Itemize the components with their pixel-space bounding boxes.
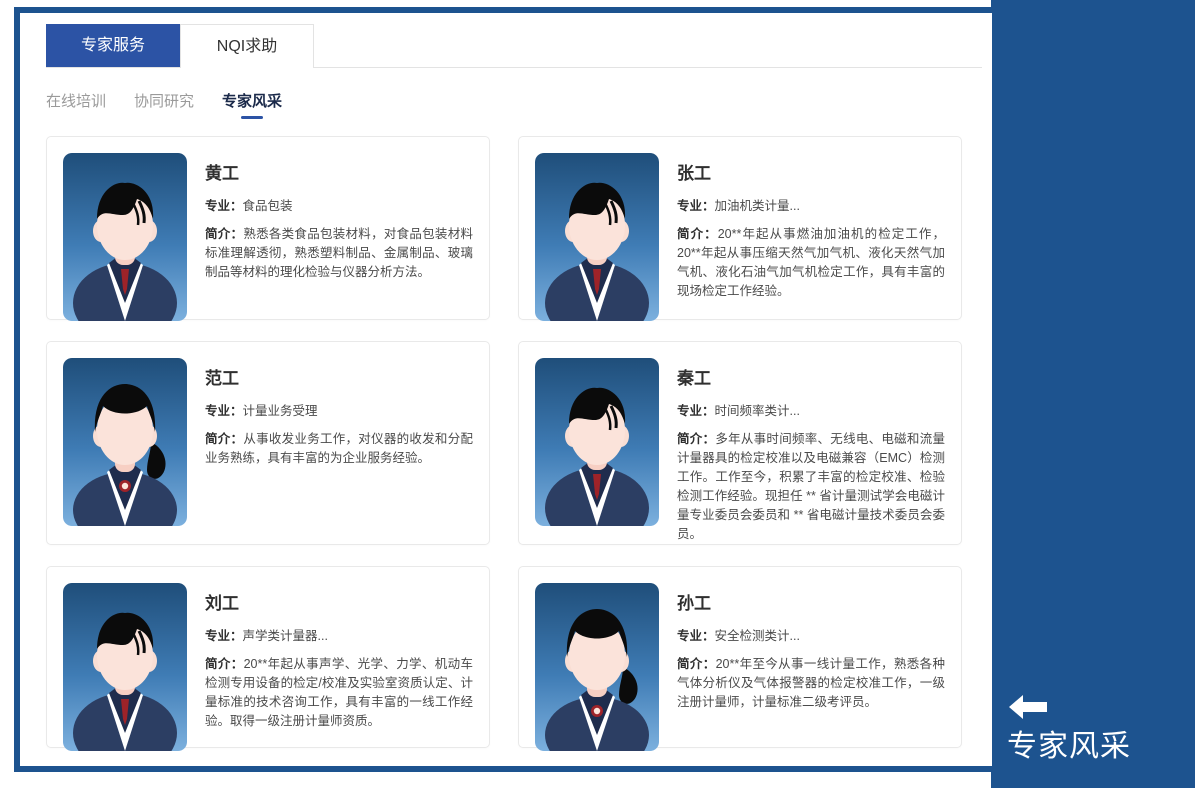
expert-major-row: 专业：加油机类计量... bbox=[677, 197, 945, 216]
expert-info: 黄工 专业：食品包装 简介：熟悉各类食品包装材料，对食品包装材料标准理解透彻，熟… bbox=[205, 153, 473, 282]
subtab-collaborative-research[interactable]: 协同研究 bbox=[134, 90, 194, 119]
app-content: 专家服务NQI求助 在线培训协同研究专家风采 bbox=[20, 13, 992, 766]
avatar-female-icon bbox=[63, 358, 187, 526]
major-value: 时间频率类计... bbox=[715, 404, 800, 418]
bio-label: 简介： bbox=[205, 227, 243, 241]
bio-value: 20**年起从事燃油加油机的检定工作，20**年起从事压缩天然气加气机、液化天然… bbox=[677, 227, 945, 298]
expert-card[interactable]: 孙工 专业：安全检测类计... 简介：20**年至今从事一线计量工作，熟悉各种气… bbox=[518, 566, 962, 748]
major-label: 专业： bbox=[677, 629, 715, 643]
expert-bio-row: 简介：从事收发业务工作，对仪器的收发和分配业务熟练，具有丰富的为企业服务经验。 bbox=[205, 430, 473, 468]
avatar-female-icon bbox=[535, 583, 659, 751]
expert-card[interactable]: 张工 专业：加油机类计量... 简介：20**年起从事燃油加油机的检定工作，20… bbox=[518, 136, 962, 320]
annotation-label: 专家风采 bbox=[1007, 728, 1187, 766]
bio-label: 简介： bbox=[677, 657, 716, 671]
expert-info: 孙工 专业：安全检测类计... 简介：20**年至今从事一线计量工作，熟悉各种气… bbox=[677, 583, 945, 712]
tab-nqi-help[interactable]: NQI求助 bbox=[180, 24, 314, 68]
expert-card[interactable]: 刘工 专业：声学类计量器... 简介：20**年起从事声学、光学、力学、机动车检… bbox=[46, 566, 490, 748]
secondary-tabbar: 在线培训协同研究专家风采 bbox=[46, 90, 992, 120]
expert-info: 秦工 专业：时间频率类计... 简介：多年从事时间频率、无线电、电磁和流量计量器… bbox=[677, 358, 945, 544]
avatar-male-icon bbox=[535, 358, 659, 526]
bio-label: 简介： bbox=[205, 432, 243, 446]
subtab-online-training[interactable]: 在线培训 bbox=[46, 90, 106, 119]
expert-major-row: 专业：计量业务受理 bbox=[205, 402, 473, 421]
annotation-panel: 专家风采 bbox=[991, 0, 1195, 788]
bio-value: 多年从事时间频率、无线电、电磁和流量计量器具的检定校准以及电磁兼容（EMC）检测… bbox=[677, 432, 945, 541]
expert-major-row: 专业：声学类计量器... bbox=[205, 627, 473, 646]
bio-label: 简介： bbox=[205, 657, 244, 671]
expert-info: 刘工 专业：声学类计量器... 简介：20**年起从事声学、光学、力学、机动车检… bbox=[205, 583, 473, 731]
expert-info: 张工 专业：加油机类计量... 简介：20**年起从事燃油加油机的检定工作，20… bbox=[677, 153, 945, 301]
bio-label: 简介： bbox=[677, 432, 715, 446]
expert-bio-row: 简介：多年从事时间频率、无线电、电磁和流量计量器具的检定校准以及电磁兼容（EMC… bbox=[677, 430, 945, 544]
avatar-male-icon bbox=[535, 153, 659, 321]
major-value: 安全检测类计... bbox=[715, 629, 800, 643]
major-value: 加油机类计量... bbox=[715, 199, 800, 213]
major-value: 计量业务受理 bbox=[243, 404, 318, 418]
expert-bio-row: 简介：20**年起从事燃油加油机的检定工作，20**年起从事压缩天然气加气机、液… bbox=[677, 225, 945, 301]
expert-name: 刘工 bbox=[205, 589, 473, 614]
major-label: 专业： bbox=[205, 629, 243, 643]
expert-bio-row: 简介：熟悉各类食品包装材料，对食品包装材料标准理解透彻，熟悉塑料制品、金属制品、… bbox=[205, 225, 473, 282]
bio-value: 20**年至今从事一线计量工作，熟悉各种气体分析仪及气体报警器的检定校准工作，一… bbox=[677, 657, 945, 709]
expert-bio-row: 简介：20**年起从事声学、光学、力学、机动车检测专用设备的检定/校准及实验室资… bbox=[205, 655, 473, 731]
expert-major-row: 专业：食品包装 bbox=[205, 197, 473, 216]
expert-name: 范工 bbox=[205, 364, 473, 389]
app-frame: 专家服务NQI求助 在线培训协同研究专家风采 bbox=[14, 7, 998, 772]
bio-value: 熟悉各类食品包装材料，对食品包装材料标准理解透彻，熟悉塑料制品、金属制品、玻璃制… bbox=[205, 227, 473, 279]
expert-card-grid: 黄工 专业：食品包装 简介：熟悉各类食品包装材料，对食品包装材料标准理解透彻，熟… bbox=[46, 136, 984, 748]
arrow-left-icon bbox=[1007, 692, 1049, 722]
annotation-content: 专家风采 bbox=[1007, 692, 1187, 766]
subtab-expert-showcase[interactable]: 专家风采 bbox=[222, 90, 282, 119]
expert-name: 张工 bbox=[677, 159, 945, 184]
expert-info: 范工 专业：计量业务受理 简介：从事收发业务工作，对仪器的收发和分配业务熟练，具… bbox=[205, 358, 473, 468]
bio-label: 简介： bbox=[677, 227, 718, 241]
major-label: 专业： bbox=[205, 404, 243, 418]
expert-bio-row: 简介：20**年至今从事一线计量工作，熟悉各种气体分析仪及气体报警器的检定校准工… bbox=[677, 655, 945, 712]
expert-card[interactable]: 范工 专业：计量业务受理 简介：从事收发业务工作，对仪器的收发和分配业务熟练，具… bbox=[46, 341, 490, 545]
expert-major-row: 专业：时间频率类计... bbox=[677, 402, 945, 421]
expert-name: 秦工 bbox=[677, 364, 945, 389]
expert-major-row: 专业：安全检测类计... bbox=[677, 627, 945, 646]
primary-tabbar: 专家服务NQI求助 bbox=[46, 24, 982, 68]
screenshot-root: 专家风采 专家服务NQI求助 在线培训协同研究专家风采 bbox=[0, 0, 1195, 788]
tab-expert-service[interactable]: 专家服务 bbox=[46, 24, 180, 67]
bio-value: 20**年起从事声学、光学、力学、机动车检测专用设备的检定/校准及实验室资质认定… bbox=[205, 657, 473, 728]
major-label: 专业： bbox=[677, 404, 715, 418]
major-label: 专业： bbox=[677, 199, 715, 213]
bio-value: 从事收发业务工作，对仪器的收发和分配业务熟练，具有丰富的为企业服务经验。 bbox=[205, 432, 473, 465]
major-value: 声学类计量器... bbox=[243, 629, 328, 643]
expert-card[interactable]: 秦工 专业：时间频率类计... 简介：多年从事时间频率、无线电、电磁和流量计量器… bbox=[518, 341, 962, 545]
expert-name: 黄工 bbox=[205, 159, 473, 184]
expert-name: 孙工 bbox=[677, 589, 945, 614]
avatar-male-icon bbox=[63, 583, 187, 751]
avatar-male-icon bbox=[63, 153, 187, 321]
expert-card[interactable]: 黄工 专业：食品包装 简介：熟悉各类食品包装材料，对食品包装材料标准理解透彻，熟… bbox=[46, 136, 490, 320]
major-value: 食品包装 bbox=[243, 199, 293, 213]
major-label: 专业： bbox=[205, 199, 243, 213]
